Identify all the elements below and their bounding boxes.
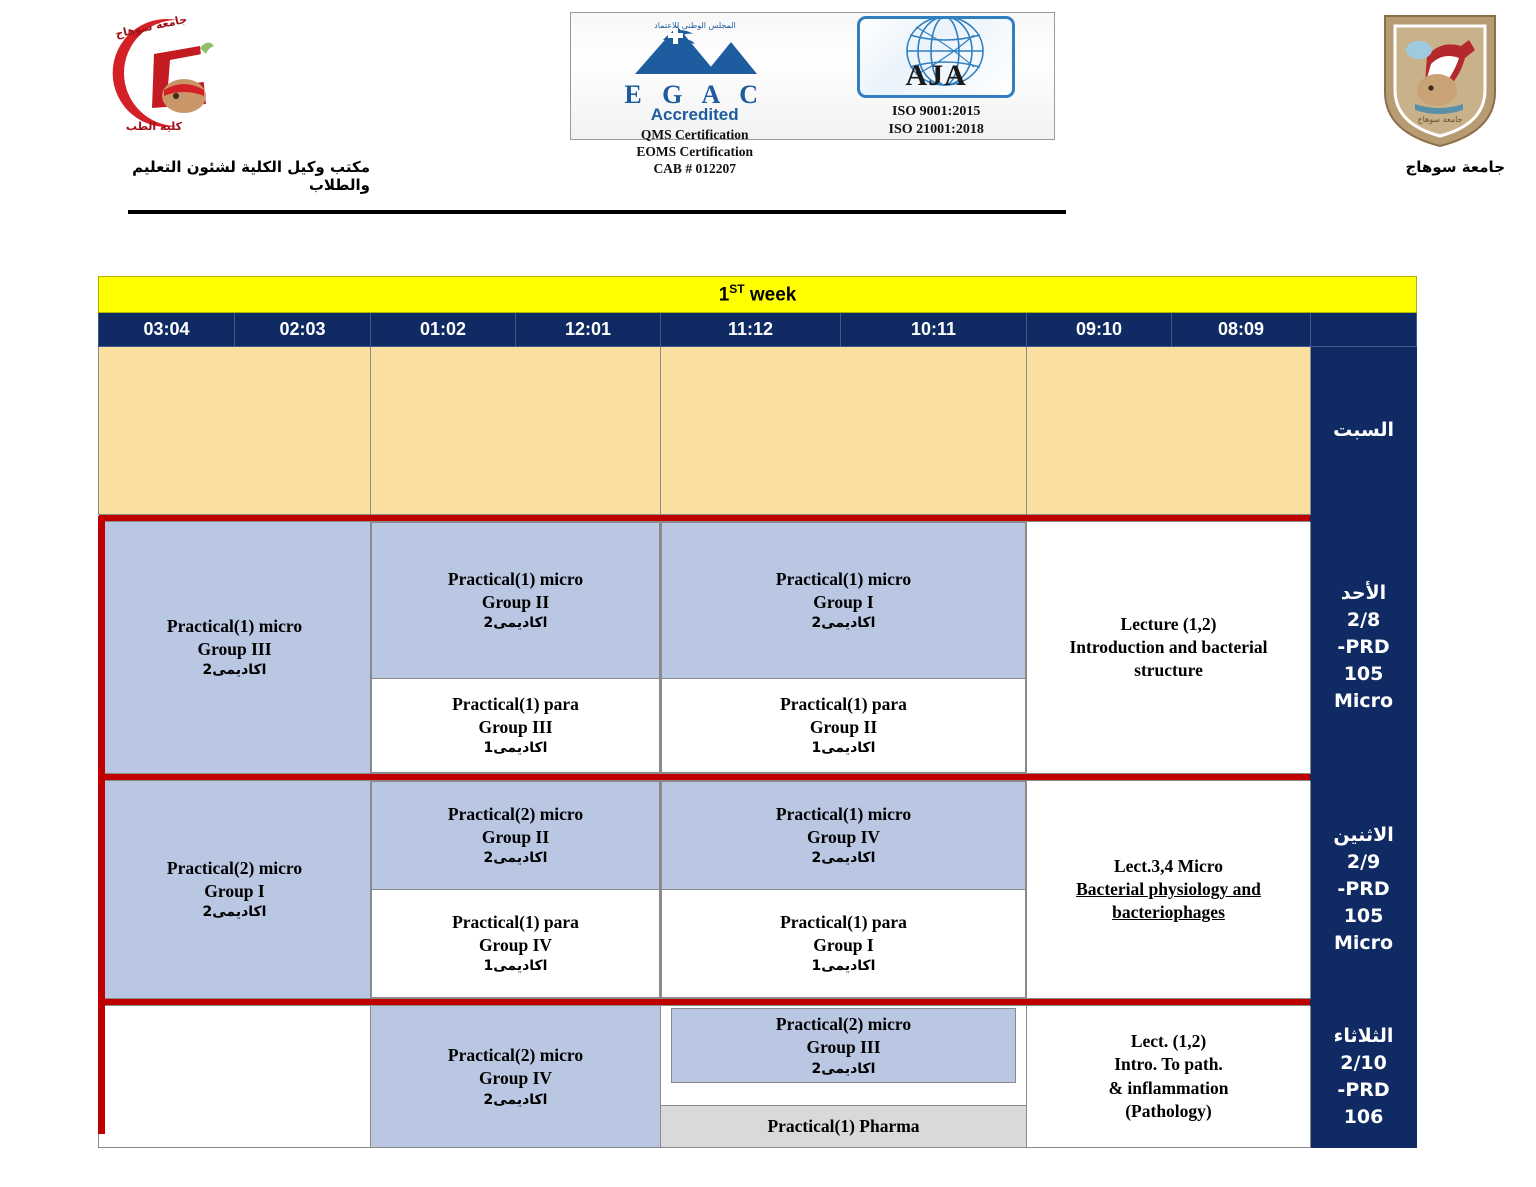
day-label-tuesday: الثلاثاء 2/10 PRD- 106 bbox=[1311, 1006, 1417, 1148]
sun-practical1-para-group2[interactable]: Practical(1) para Group II اكاديمى1 bbox=[662, 679, 1026, 773]
tue-practical2-micro-group3-wrap: Practical(2) micro Group III اكاديمى2 bbox=[661, 1006, 1026, 1083]
iso-21001-line: ISO 21001:2018 bbox=[889, 122, 984, 137]
entry-line-1: Practical(1) para bbox=[372, 693, 659, 716]
entry-line-1: Practical(1) micro bbox=[99, 615, 370, 638]
sun-practical1-micro-group3[interactable]: Practical(1) micro Group III اكاديمى2 bbox=[99, 522, 371, 774]
tue-slot-1112-1011-group: Practical(2) micro Group III اكاديمى2 Pr… bbox=[661, 1006, 1027, 1148]
row-tuesday: Practical(2) micro Group IV اكاديمى2 Pra… bbox=[99, 1006, 1417, 1148]
aja-globe-icon: AJA bbox=[857, 16, 1015, 98]
entry-line-1: Lect. (1,2) bbox=[1027, 1030, 1310, 1053]
row-monday: Practical(2) micro Group I اكاديمى2 Prac… bbox=[99, 781, 1417, 999]
entry-line-2: Group I bbox=[99, 880, 370, 903]
tue-practical1-pharma[interactable]: Practical(1) Pharma bbox=[661, 1105, 1026, 1147]
week-word: week bbox=[745, 285, 797, 306]
entry-room-ar: اكاديمى2 bbox=[99, 661, 370, 680]
week-ordinal-suffix: ST bbox=[729, 282, 744, 296]
divider-day-spacer-3 bbox=[1311, 999, 1417, 1006]
sunday-name: الأحد bbox=[1311, 580, 1416, 607]
entry-room-ar: اكاديمى2 bbox=[372, 614, 659, 633]
time-slot-1011[interactable]: 10:11 bbox=[841, 313, 1027, 347]
mon-practical1-para-group1[interactable]: Practical(1) para Group I اكاديمى1 bbox=[662, 890, 1026, 998]
week-number: 1 bbox=[719, 285, 730, 306]
day-label-saturday: السبت bbox=[1311, 347, 1417, 515]
schedule-table-container: 1ST week 03:04 02:03 01:02 12:01 11:12 1… bbox=[98, 276, 1416, 1148]
sun-practical1-micro-group1[interactable]: Practical(1) micro Group I اكاديمى2 bbox=[662, 523, 1026, 679]
iso-9001-line: ISO 9001:2015 bbox=[892, 104, 980, 119]
tue-empty-cell[interactable] bbox=[99, 1006, 371, 1148]
entry-line-1: Lecture (1,2) bbox=[1027, 613, 1310, 636]
mon-slot-0102-1201-group: Practical(2) micro Group II اكاديمى2 Pra… bbox=[371, 781, 661, 999]
mon-practical1-micro-group4[interactable]: Practical(1) micro Group IV اكاديمى2 bbox=[662, 782, 1026, 890]
red-divider-1 bbox=[99, 515, 1311, 522]
monday-name: الاثنين bbox=[1311, 822, 1416, 849]
time-slot-1112[interactable]: 11:12 bbox=[661, 313, 841, 347]
red-divider-3 bbox=[99, 999, 1311, 1006]
monday-course: Micro bbox=[1311, 930, 1416, 957]
entry-line-2: Group III bbox=[372, 716, 659, 739]
sat-cell-1[interactable] bbox=[99, 347, 371, 515]
time-slot-0203[interactable]: 02:03 bbox=[235, 313, 371, 347]
mon-lecture-cell[interactable]: Lect.3,4 Micro Bacterial physiology and … bbox=[1027, 781, 1311, 999]
sunday-course: Micro bbox=[1311, 688, 1416, 715]
tue-lecture-cell[interactable]: Lect. (1,2) Intro. To path. & inflammati… bbox=[1027, 1006, 1311, 1148]
divider-sunday-monday bbox=[99, 774, 1417, 781]
time-slot-header-row: 03:04 02:03 01:02 12:01 11:12 10:11 09:1… bbox=[99, 313, 1417, 347]
entry-room-ar: اكاديمى1 bbox=[372, 957, 659, 976]
monday-room-line1: PRD- bbox=[1311, 876, 1416, 903]
mon-practical2-micro-group2[interactable]: Practical(2) micro Group II اكاديمى2 bbox=[372, 782, 660, 890]
mon-slot-1112-1011-group: Practical(1) micro Group IV اكاديمى2 Pra… bbox=[661, 781, 1027, 999]
day-label-sunday: الأحد 2/8 PRD- 105 Micro bbox=[1311, 522, 1417, 774]
tue-practical2-micro-group3[interactable]: Practical(2) micro Group III اكاديمى2 bbox=[671, 1008, 1016, 1083]
tue-gap-cell bbox=[661, 1083, 1026, 1105]
entry-line-1: Practical(1) para bbox=[372, 911, 659, 934]
sunday-date: 2/8 bbox=[1311, 607, 1416, 634]
sun-practical1-micro-group2[interactable]: Practical(1) micro Group II اكاديمى2 bbox=[372, 523, 660, 679]
entry-line-1: Practical(1) para bbox=[662, 693, 1025, 716]
entry-line-2: Intro. To path. bbox=[1027, 1053, 1310, 1076]
entry-room-ar: اكاديمى1 bbox=[372, 739, 659, 758]
entry-line-2: Group IV bbox=[371, 1067, 660, 1090]
entry-room-ar: اكاديمى2 bbox=[675, 1060, 1012, 1079]
entry-line-2: Group III bbox=[99, 638, 370, 661]
entry-line-2: Group IV bbox=[372, 934, 659, 957]
entry-line-2: Group I bbox=[662, 591, 1025, 614]
tue-practical2-micro-group4[interactable]: Practical(2) micro Group IV اكاديمى2 bbox=[371, 1006, 661, 1148]
deanship-office-line: مكتب وكيل الكلية لشئون التعليم والطلاب bbox=[70, 158, 370, 194]
row-sunday: Practical(1) micro Group III اكاديمى2 Pr… bbox=[99, 522, 1417, 774]
entry-line-2: Group I bbox=[662, 934, 1025, 957]
mon-practical2-micro-group1[interactable]: Practical(2) micro Group I اكاديمى2 bbox=[99, 781, 371, 999]
svg-text:كلية الطب: كلية الطب bbox=[126, 120, 183, 133]
row-saturday: السبت bbox=[99, 347, 1417, 515]
entry-line-3: bacteriophages bbox=[1027, 901, 1310, 924]
divider-saturday-sunday bbox=[99, 515, 1417, 522]
day-label-monday: الاثنين 2/9 PRD- 105 Micro bbox=[1311, 781, 1417, 999]
entry-room-ar: اكاديمى2 bbox=[372, 849, 659, 868]
mon-practical1-para-group4[interactable]: Practical(1) para Group IV اكاديمى1 bbox=[372, 890, 660, 998]
egac-accredited-label: Accredited bbox=[651, 106, 739, 124]
tuesday-room-line2: 106 bbox=[1311, 1104, 1416, 1131]
monday-date: 2/9 bbox=[1311, 849, 1416, 876]
entry-line-1: Practical(1) micro bbox=[372, 568, 659, 591]
tuesday-room-line1: PRD- bbox=[1311, 1077, 1416, 1104]
sat-cell-3[interactable] bbox=[661, 347, 1027, 515]
monday-room-line2: 105 bbox=[1311, 903, 1416, 930]
time-slot-0102[interactable]: 01:02 bbox=[371, 313, 516, 347]
tuesday-name: الثلاثاء bbox=[1311, 1023, 1416, 1050]
entry-line-2: Group II bbox=[662, 716, 1025, 739]
entry-line-2: Group II bbox=[372, 591, 659, 614]
sat-cell-4[interactable] bbox=[1027, 347, 1311, 515]
sun-slot-1112-1011-group: Practical(1) micro Group I اكاديمى2 Prac… bbox=[661, 522, 1027, 774]
entry-line-2: Bacterial physiology and bbox=[1027, 878, 1310, 901]
day-column-header-blank bbox=[1311, 313, 1417, 347]
saturday-name: السبت bbox=[1311, 417, 1416, 444]
entry-line-1: Practical(2) micro bbox=[371, 1044, 660, 1067]
qms-certification-line: QMS Certification bbox=[641, 127, 749, 142]
university-name-label: جامعة سوهاج bbox=[1325, 158, 1505, 176]
faculty-of-medicine-logo-icon: جامعة سوهاج كلية الطب bbox=[82, 8, 222, 138]
sohag-university-crest-icon: جامعة سوهاج bbox=[1375, 4, 1505, 150]
time-slot-0910[interactable]: 09:10 bbox=[1027, 313, 1172, 347]
eoms-certification-line: EOMS Certification bbox=[636, 144, 753, 159]
time-slot-0809[interactable]: 08:09 bbox=[1172, 313, 1311, 347]
sun-practical1-para-group3[interactable]: Practical(1) para Group III اكاديمى1 bbox=[372, 679, 660, 773]
entry-room-ar: اكاديمى2 bbox=[371, 1091, 660, 1110]
svg-text:جامعة سوهاج: جامعة سوهاج bbox=[114, 13, 188, 42]
entry-line-1: Practical(1) Pharma bbox=[661, 1115, 1026, 1138]
cab-number-line: CAB # 012207 bbox=[653, 161, 736, 176]
entry-line-1: Practical(2) micro bbox=[372, 803, 659, 826]
entry-line-1: Practical(1) micro bbox=[662, 803, 1025, 826]
entry-line-3: structure bbox=[1027, 659, 1310, 682]
weekly-schedule-table: 1ST week 03:04 02:03 01:02 12:01 11:12 1… bbox=[98, 276, 1417, 1148]
entry-line-1: Practical(2) micro bbox=[99, 857, 370, 880]
entry-line-2: Introduction and bacterial bbox=[1027, 636, 1310, 659]
entry-line-1: Practical(1) para bbox=[662, 911, 1025, 934]
entry-line-2: Group II bbox=[372, 826, 659, 849]
sun-slot-0102-1201-group: Practical(1) micro Group II اكاديمى2 Pra… bbox=[371, 522, 661, 774]
week-banner-row: 1ST week bbox=[99, 277, 1417, 313]
sat-cell-2[interactable] bbox=[371, 347, 661, 515]
entry-room-ar: اكاديمى1 bbox=[662, 957, 1025, 976]
accreditation-certificate-block: المجلس الوطنى للاعتماد E G A C Accredite… bbox=[570, 12, 1055, 140]
egac-mountain-icon: المجلس الوطنى للاعتماد bbox=[605, 16, 785, 82]
entry-room-ar: اكاديمى1 bbox=[662, 739, 1025, 758]
svg-text:جامعة سوهاج: جامعة سوهاج bbox=[1417, 115, 1462, 124]
entry-line-3: & inflammation bbox=[1027, 1077, 1310, 1100]
page-header: جامعة سوهاج كلية الطب المجلس الوطنى للاع… bbox=[0, 0, 1536, 232]
entry-room-ar: اكاديمى2 bbox=[662, 849, 1025, 868]
sun-lecture-cell[interactable]: Lecture (1,2) Introduction and bacterial… bbox=[1027, 522, 1311, 774]
week-title-cell: 1ST week bbox=[99, 277, 1417, 313]
aja-label: AJA bbox=[860, 61, 1012, 91]
entry-line-2: Group III bbox=[675, 1036, 1012, 1059]
header-divider-rule bbox=[128, 210, 1066, 214]
divider-monday-tuesday bbox=[99, 999, 1417, 1006]
red-left-edge bbox=[98, 516, 105, 1134]
time-slot-0304[interactable]: 03:04 bbox=[99, 313, 235, 347]
time-slot-1201[interactable]: 12:01 bbox=[516, 313, 661, 347]
svg-text:المجلس الوطنى للاعتماد: المجلس الوطنى للاعتماد bbox=[654, 21, 736, 30]
entry-line-1: Practical(1) micro bbox=[662, 568, 1025, 591]
entry-room-ar: اكاديمى2 bbox=[662, 614, 1025, 633]
divider-day-spacer-2 bbox=[1311, 774, 1417, 781]
sunday-room-line2: 105 bbox=[1311, 661, 1416, 688]
entry-line-2: Group IV bbox=[662, 826, 1025, 849]
divider-day-spacer-1 bbox=[1311, 515, 1417, 522]
entry-line-4: (Pathology) bbox=[1027, 1100, 1310, 1123]
entry-room-ar: اكاديمى2 bbox=[99, 903, 370, 922]
entry-line-1: Lect.3,4 Micro bbox=[1027, 855, 1310, 878]
tuesday-date: 2/10 bbox=[1311, 1050, 1416, 1077]
entry-line-1: Practical(2) micro bbox=[675, 1013, 1012, 1036]
sunday-room-line1: PRD- bbox=[1311, 634, 1416, 661]
red-divider-2 bbox=[99, 774, 1311, 781]
